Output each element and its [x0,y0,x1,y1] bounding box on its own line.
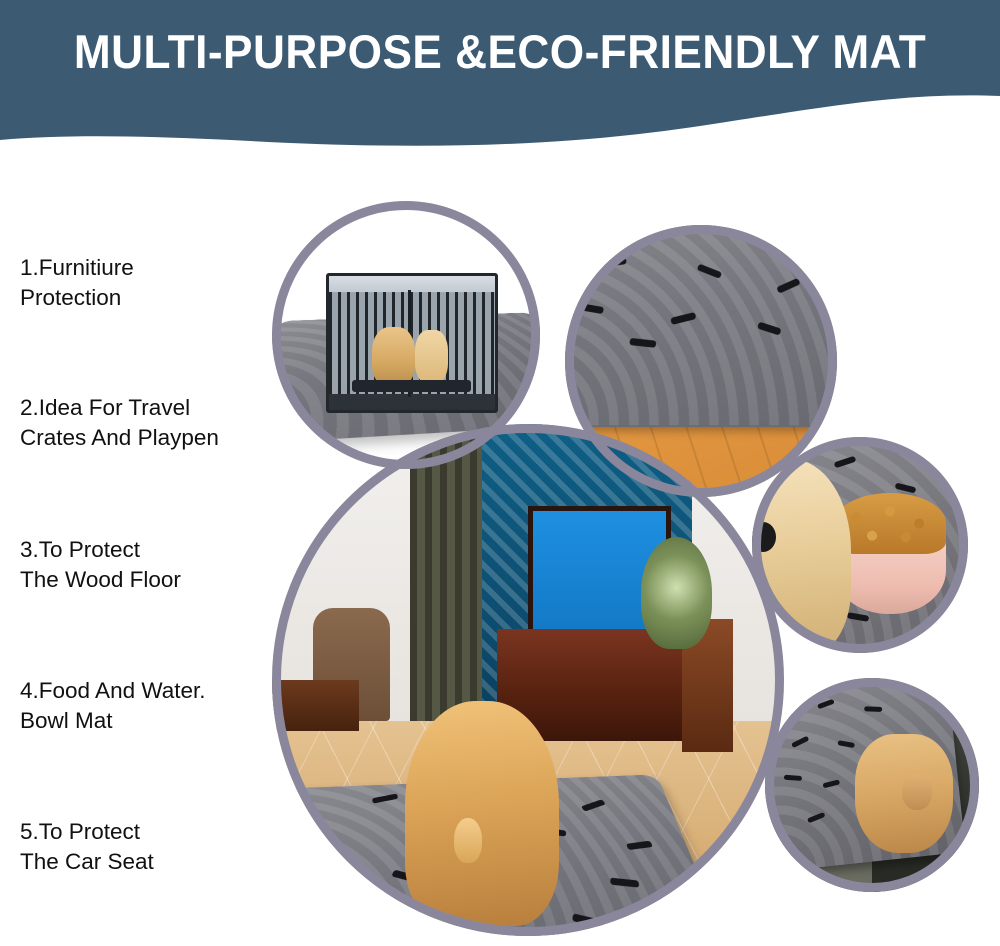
side-table [272,680,359,731]
golden-retriever [405,701,559,926]
crate-base [352,380,472,392]
puppy-face [902,774,932,810]
window-curtain [410,424,482,721]
bone-print-mat [565,225,837,426]
dog-in-crate [372,327,415,386]
dry-kibble [834,493,946,553]
living-room-photo-circle [272,424,784,936]
car-seat-photo [765,678,979,892]
product-infographic: MULTI-PURPOSE &ECO-FRIENDLY MAT 1.Furnit… [0,0,1000,946]
dog-head [454,818,482,863]
food-bowl-photo-circle [752,437,968,653]
bordeaux-puppy [855,734,953,854]
flower-arrangement [641,537,713,650]
metal-crate [326,273,498,413]
dog-snout [752,522,776,552]
dog-in-crate-rear [415,330,448,384]
bone-pattern [565,225,837,426]
car-seat-photo-circle [765,678,979,892]
photo-collage [0,0,1000,946]
living-room-photo [272,424,784,936]
food-bowl-photo [752,437,968,653]
